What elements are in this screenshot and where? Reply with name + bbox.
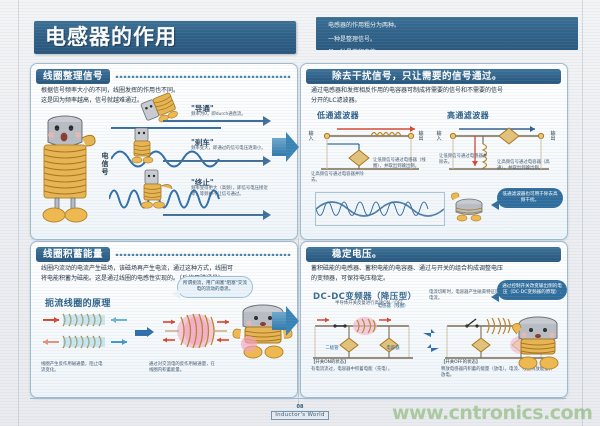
- highpass-input-label: 输入: [435, 132, 443, 142]
- panel-br-heading: 稳定电压。: [306, 247, 561, 262]
- arrow-state-1: [163, 120, 263, 122]
- intro-box: 电感器的作用粗分为两种。 一种是整理信号。 另一种是蓄积电能。: [316, 17, 578, 50]
- panel-tr-body: 通过电感器和发挥相反作用的电容器可制成将需要的信号和不需要的信号 分开的LC滤波…: [311, 87, 559, 106]
- panel-stabilize-voltage: 稳定电压。 蓄积磁能的电感器、蓄积电能的电容器、通过与开关的组合构成调整电压 的…: [300, 241, 568, 398]
- lowpass-note-right: 让低频信号通过电感器（线圈），并取出到输出侧。: [373, 158, 427, 169]
- highpass-filter-title: 高通滤波器: [447, 110, 489, 121]
- highpass-output-label: 输出: [549, 132, 557, 142]
- lowpass-filter-title: 低通滤波器: [317, 110, 359, 121]
- dcdc-exchange-arrows: [423, 328, 439, 354]
- magnetised-coil: [159, 304, 233, 358]
- panel-bl-dot-rule: [115, 253, 291, 256]
- panel-tr-body-line-2: 分开的LC滤波器。: [311, 97, 559, 106]
- dcdc-diode-label: 二极管: [319, 346, 345, 352]
- choke-bubble: 所谓扼流，用广阔塞"阻塞"交流电的流动的意思。: [177, 276, 253, 298]
- signal-label: 电信号: [101, 152, 109, 176]
- dcdc-bubble: 通过控制开关改变输出侧的电压（DC-DC变频器的原理）.: [497, 280, 567, 300]
- inductor-mascot-tilt-2: [123, 126, 163, 164]
- inductor-mascot-tilt-1: [139, 90, 181, 124]
- inductor-mascot-tilt-3: [131, 168, 175, 210]
- arrow-state-3: [163, 214, 263, 216]
- state-1-desc: 频率为0，即durch通直流。: [191, 112, 271, 118]
- highpass-note-right: 让高频信号通过电容器（高通），并取出到输出侧。: [497, 160, 553, 171]
- dcdc-state-on-title: 【开关ON的状态】: [311, 360, 371, 366]
- inductor-mascot-bottom-tr: [449, 190, 489, 224]
- page-edge-right: [582, 0, 583, 426]
- page-edge-left: [18, 0, 19, 426]
- lowpass-note-left: 让高频信号通过电容器并除去。: [311, 172, 365, 183]
- intro-line-3: 另一种是蓄积电能。: [316, 44, 578, 58]
- panel-tl-heading: 线圈整理信号: [36, 69, 110, 84]
- panel-remove-noise: 除去干扰信号，只让需要的信号通过。 通过电感器和发挥相反作用的电容器可制成将需要…: [300, 63, 568, 240]
- inductor-mascot-drum-br: [509, 310, 567, 372]
- lowpass-noise-bubble: 低通滤波器也可用于除去高频干扰。: [497, 188, 563, 208]
- lowpass-input-label: 输入: [307, 132, 315, 142]
- footer-brand: Inductor's World: [271, 411, 329, 420]
- page-fold-line: [298, 238, 299, 406]
- flow-arrow-top: [272, 138, 286, 156]
- highpass-note-left: 让低频信号通过电感器并除去。: [439, 154, 489, 165]
- panel-tr-heading: 除去干扰信号，只让需要的信号通过。: [306, 69, 561, 84]
- noisy-waveform: [316, 193, 444, 225]
- noisy-waveform-box: [315, 192, 445, 226]
- page-canvas: 电感器的作用 电感器的作用粗分为两种。 一种是整理信号。 另一种是蓄积电能。 线…: [0, 0, 600, 426]
- choke-step-arrow: [135, 330, 147, 336]
- page-title: 电感器的作用: [34, 21, 296, 54]
- page-title-bar: 电感器的作用: [34, 21, 296, 54]
- page-bottom-rule: [30, 398, 566, 399]
- panel-br-body-line-1: 蓄积磁能的电感器、蓄积电能的电容器、通过与开关的组合构成调整电压: [311, 265, 559, 274]
- inductor-mascot-drum: [231, 300, 293, 362]
- intro-line-2: 一种是整理信号。: [316, 31, 578, 45]
- site-watermark: www.cntronics.com: [392, 402, 592, 424]
- arrow-state-2: [163, 160, 263, 162]
- choke-caption-1: 线圈产生反作用磁通量，阻止电流变化。: [41, 362, 103, 373]
- panel-bl-heading: 线圈积蓄能量: [36, 247, 110, 262]
- intro-line-1: 电感器的作用粗分为两种。: [316, 17, 578, 31]
- choke-caption-2: 通过对交流电的反作用磁通量，在线圈内积蓄能量。: [149, 362, 219, 373]
- panel-coil-organizes-signal: 线圈整理信号 根据信号频率大小的不同，线圈发挥的作用也不同。 这是因为频率越高，…: [30, 63, 298, 240]
- dcdc-state-off-title: 【开关OFF的状态】: [441, 360, 501, 366]
- state-3-desc: 频率变得更大（高频），即信号电压接近零，等频却不让信号通过。: [191, 186, 269, 197]
- dcdc-inductor-label: 电感器（线圈）: [373, 304, 413, 310]
- panel-coil-stores-energy: 线圈积蓄能量 线圈内流动的电流产生磁场，该磁场再产生电流，通过这种方式，线圈可 …: [30, 241, 298, 398]
- choke-coil-pair: [41, 310, 129, 354]
- dcdc-capacitor-label: 电容器: [379, 346, 407, 352]
- panel-tr-body-line-1: 通过电感器和发挥相反作用的电容器可制成将需要的信号和不需要的信号: [311, 87, 559, 96]
- flow-arrow-bottom: [272, 312, 286, 330]
- state-2-desc: 频率变大，即通过的信号电压逐渐小。: [191, 146, 269, 152]
- choke-principle-title: 扼流线圈的原理: [45, 296, 111, 309]
- dcdc-state-on-text: 有电流流过，电容器中积蓄电能（充电）。: [311, 367, 419, 373]
- inductor-mascot-large: [33, 108, 97, 228]
- panel-bl-body-line-1: 线圈内流动的电流产生磁场，该磁场再产生电流，通过这种方式，线圈可: [41, 265, 289, 274]
- dcdc-circuit-switch-on: [309, 314, 421, 364]
- panel-tl-dot-rule: [115, 75, 291, 78]
- lowpass-output-label: 输出: [417, 132, 425, 142]
